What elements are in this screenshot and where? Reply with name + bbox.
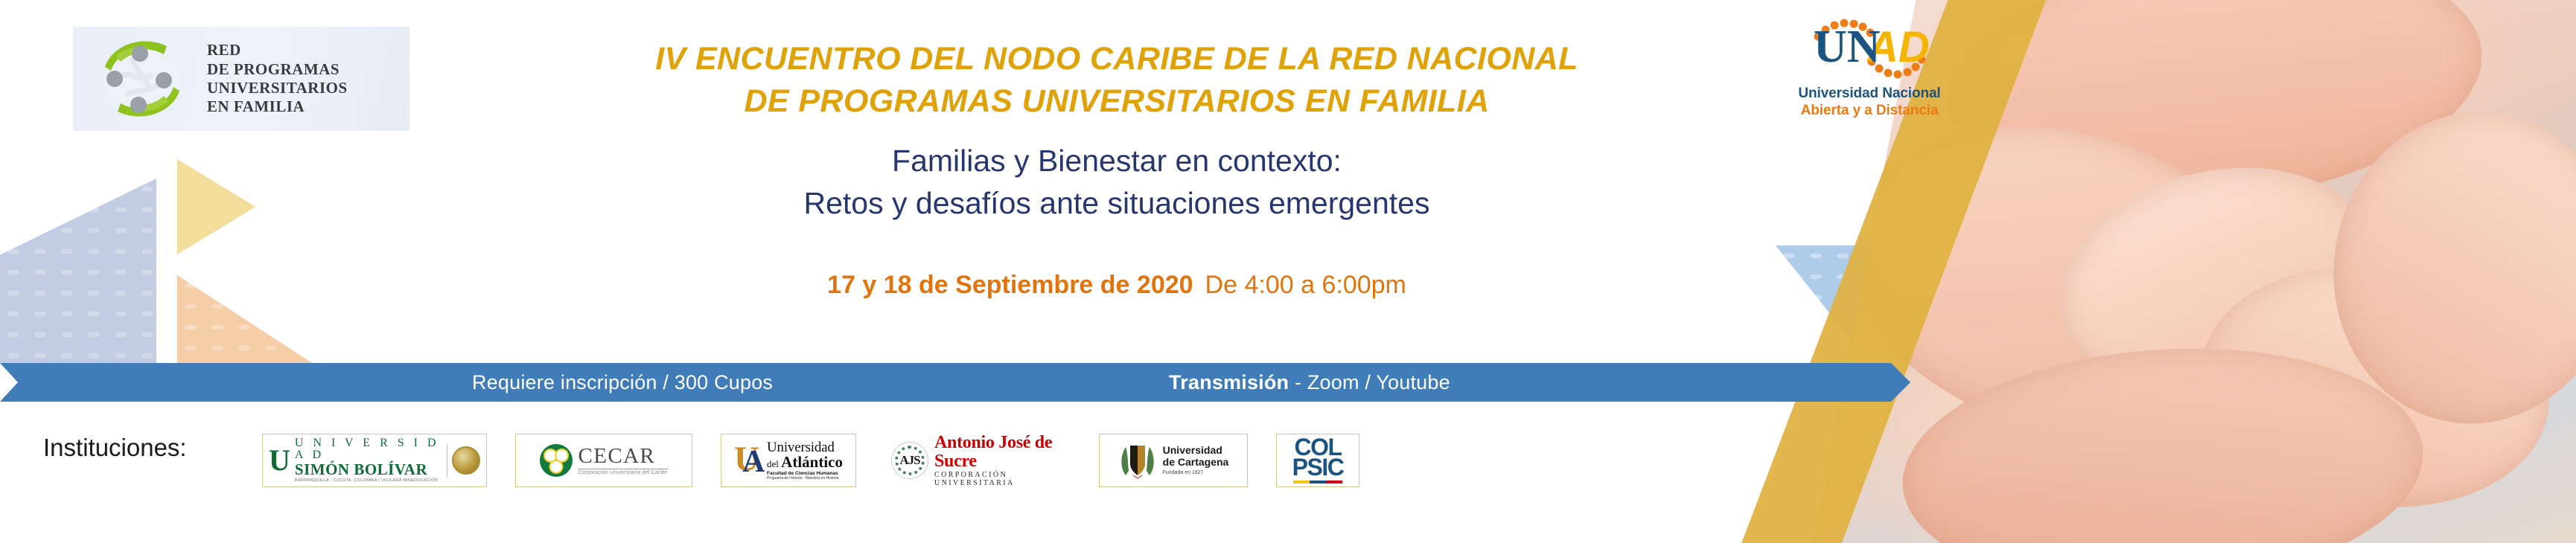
usb-line-1: U N I V E R S I D A D xyxy=(295,437,442,462)
institutions-label: Instituciones: xyxy=(43,434,187,462)
ucar-line-2: de Cartagena xyxy=(1163,457,1229,469)
red-logo-line-2: DE PROGRAMAS xyxy=(207,60,348,79)
institution-logo-universidad-de-cartagena: Universidad de Cartagena Fundada en 1827 xyxy=(1099,434,1248,487)
broadcast-label: Transmisión xyxy=(1169,371,1289,393)
unad-tagline-line-2: Abierta y a Distancia xyxy=(1784,103,1955,119)
institution-logo-row: U U N I V E R S I D A D SIMÓN BOLÍVAR BA… xyxy=(262,430,1359,491)
event-banner: RED DE PROGRAMAS UNIVERSITARIOS EN FAMIL… xyxy=(0,0,2576,543)
red-logo-line-3: UNIVERSITARIOS xyxy=(207,79,348,97)
cecar-line-2: Corporación Universitaria del Caribe xyxy=(578,469,667,475)
broadcast-note: Transmisión - Zoom / Youtube xyxy=(1169,371,1450,394)
svg-text:UN: UN xyxy=(1814,22,1881,72)
decorative-triangle-yellow xyxy=(177,159,255,254)
institution-logo-cecar: CECAR Corporación Universitaria del Cari… xyxy=(515,434,692,487)
unad-acronym-icon: AD UN xyxy=(1784,15,1955,89)
registration-note: Requiere inscripción / 300 Cupos xyxy=(472,371,773,394)
event-subtitle-line-2: Retos y desafíos ante situaciones emerge… xyxy=(447,186,1787,221)
ucar-shield-icon xyxy=(1118,441,1157,480)
uatl-line-2-small: del xyxy=(767,458,779,469)
uatl-monogram-icon: U A xyxy=(734,443,764,478)
event-title-line-2: DE PROGRAMAS UNIVERSITARIOS EN FAMILIA xyxy=(447,83,1787,120)
institution-logo-universidad-simon-bolivar: U U N I V E R S I D A D SIMÓN BOLÍVAR BA… xyxy=(262,434,487,487)
ajs-wreath-seal-icon: AJS xyxy=(891,442,928,479)
event-date: 17 y 18 de Septiembre de 2020 xyxy=(827,271,1193,299)
uatl-monogram-a: A xyxy=(742,446,765,478)
event-subtitle-line-1: Familias y Bienestar en contexto: xyxy=(447,144,1787,179)
uatl-line-2-big: Atlántico xyxy=(781,453,843,471)
institution-logo-colpsic: COL PSIC xyxy=(1276,434,1359,487)
decorative-triangle-bluegrey-pattern xyxy=(0,179,156,379)
uatl-line-4: Programa de Historia · Maestría en Histo… xyxy=(767,477,843,481)
usb-line-3: BARRANQUILLA · CUCUTA, COLOMBIA | VIGILA… xyxy=(295,479,442,483)
broadcast-value: - Zoom / Youtube xyxy=(1289,371,1450,393)
red-programas-universitarios-logo: RED DE PROGRAMAS UNIVERSITARIOS EN FAMIL… xyxy=(73,27,409,131)
event-datetime: 17 y 18 de Septiembre de 2020De 4:00 a 6… xyxy=(447,271,1787,300)
unad-logo: AD UN Universidad Nacional Abierta y a D… xyxy=(1784,15,1955,128)
info-bar-left-notch xyxy=(0,363,18,402)
colpsic-line-2: PSIC xyxy=(1292,457,1344,478)
usb-divider xyxy=(447,444,447,477)
red-logo-line-1: RED xyxy=(207,41,348,60)
cecar-circles-icon xyxy=(540,444,573,477)
event-title-line-1: IV ENCUENTRO DEL NODO CARIBE DE LA RED N… xyxy=(447,41,1787,77)
ajs-line-2: CORPORACIÓN UNIVERSITARIA xyxy=(934,471,1064,487)
ajs-line-1: Antonio José de Sucre xyxy=(934,434,1064,471)
red-logo-line-4: EN FAMILIA xyxy=(207,97,348,116)
ucar-line-3: Fundada en 1827 xyxy=(1163,470,1229,476)
institution-logo-universidad-del-atlantico: U A Universidad del Atlántico Facultad d… xyxy=(721,434,856,487)
ajs-monogram: AJS xyxy=(899,453,919,468)
usb-monogram: U xyxy=(269,449,290,472)
usb-accreditation-seal-icon xyxy=(452,446,480,475)
red-network-icon xyxy=(86,31,198,126)
unad-tagline-line-1: Universidad Nacional xyxy=(1784,86,1955,102)
institution-logo-antonio-jose-de-sucre: AJS Antonio José de Sucre CORPORACIÓN UN… xyxy=(884,434,1071,487)
colpsic-flag-icon xyxy=(1293,481,1342,483)
ucar-line-1: Universidad xyxy=(1163,445,1229,457)
info-bar: Requiere inscripción / 300 Cupos Transmi… xyxy=(0,363,1891,402)
cecar-line-1: CECAR xyxy=(578,446,667,467)
red-logo-wordmark: RED DE PROGRAMAS UNIVERSITARIOS EN FAMIL… xyxy=(207,41,348,117)
event-time: De 4:00 a 6:00pm xyxy=(1205,271,1406,299)
usb-line-2: SIMÓN BOLÍVAR xyxy=(295,462,442,478)
